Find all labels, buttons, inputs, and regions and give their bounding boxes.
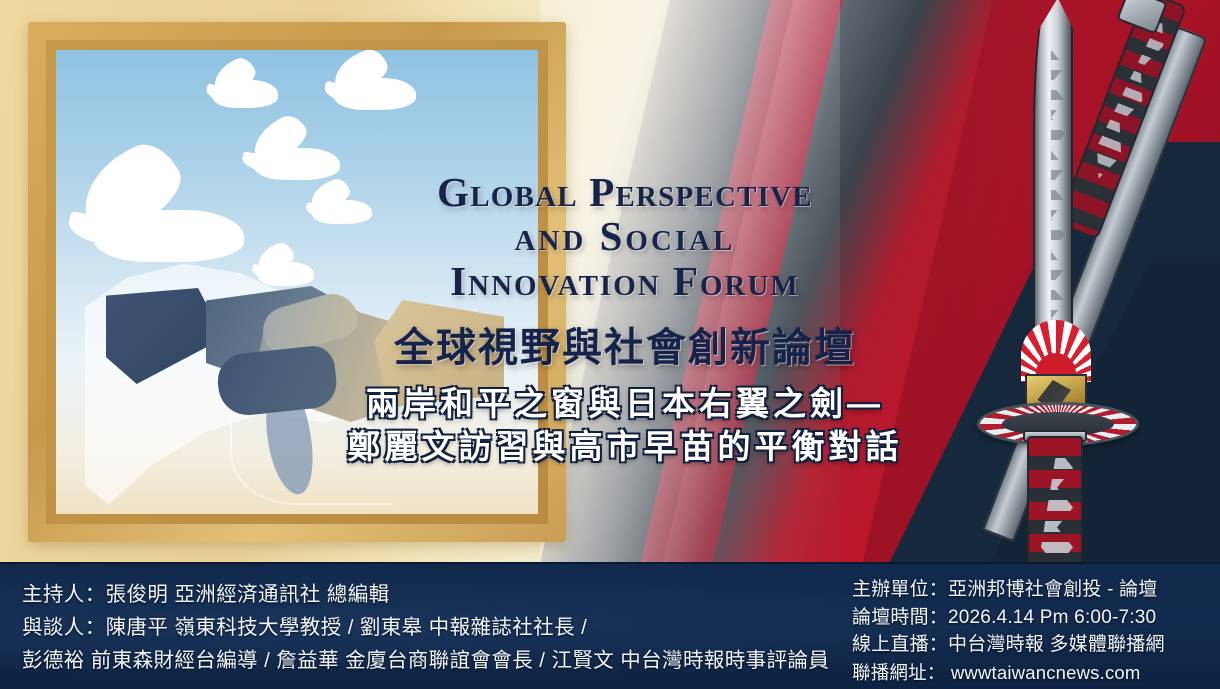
credits-block: 主持人：張俊明 亞洲經済通訊社 總編輯 與談人：陳唐平 嶺東科技大學教授 / 劉… [22, 578, 852, 677]
datetime-line: 論壇時間：2026.4.14 Pm 6:00-7:30 [852, 604, 1202, 632]
english-title-line-1: Global Perspective [300, 170, 950, 214]
event-info-block: 主辦單位：亞洲邦博社會創投 - 論壇 論壇時間：2026.4.14 Pm 6:0… [852, 576, 1202, 686]
chinese-subtitle-line-1: 兩岸和平之窗與日本右翼之劍— [300, 383, 950, 426]
peace-dove-icon [324, 54, 420, 124]
peace-dove-icon [206, 62, 284, 116]
english-title: Global Perspective and Social Innovation… [300, 170, 950, 303]
panelists-line-1: 與談人：陳唐平 嶺東科技大學教授 / 劉東皋 中報雜誌社社長 / [22, 611, 852, 644]
katana-scabbard [982, 26, 1207, 542]
katana-handle-wrap [1027, 436, 1083, 562]
english-title-line-2: and Social [300, 214, 950, 258]
website-line[interactable]: 聯播網址： wwwtaiwancnews.com [852, 659, 1202, 687]
chinese-subtitle: 兩岸和平之窗與日本右翼之劍— 鄭麗文訪習與高市早苗的平衡對話 [300, 383, 950, 469]
peace-dove-icon [68, 154, 248, 286]
english-title-line-3: Innovation Forum [300, 259, 950, 303]
livestream-line: 線上直播：中台灣時報 多媒體聯播網 [852, 631, 1202, 659]
poster-artwork: Global Perspective and Social Innovation… [0, 0, 1220, 562]
forum-poster: Global Perspective and Social Innovation… [0, 0, 1220, 689]
organizer-line: 主辦單位：亞洲邦博社會創投 - 論壇 [852, 576, 1202, 604]
poster-title-block: Global Perspective and Social Innovation… [300, 170, 950, 469]
host-line: 主持人：張俊明 亞洲經済通訊社 總編輯 [22, 578, 852, 611]
chinese-title: 全球視野與社會創新論壇 [300, 315, 950, 373]
rising-sun-icon [1021, 320, 1091, 382]
panelists-line-2: 彭德裕 前東森財經台編導 / 詹益華 金廈台商聯誼會會長 / 江賢文 中台灣時報… [22, 644, 852, 677]
katana-icon [955, 0, 1185, 562]
chinese-subtitle-line-2: 鄭麗文訪習與高市早苗的平衡對話 [300, 426, 950, 469]
bottom-info-bar: 主持人：張俊明 亞洲經済通訊社 總編輯 與談人：陳唐平 嶺東科技大學教授 / 劉… [0, 562, 1220, 689]
